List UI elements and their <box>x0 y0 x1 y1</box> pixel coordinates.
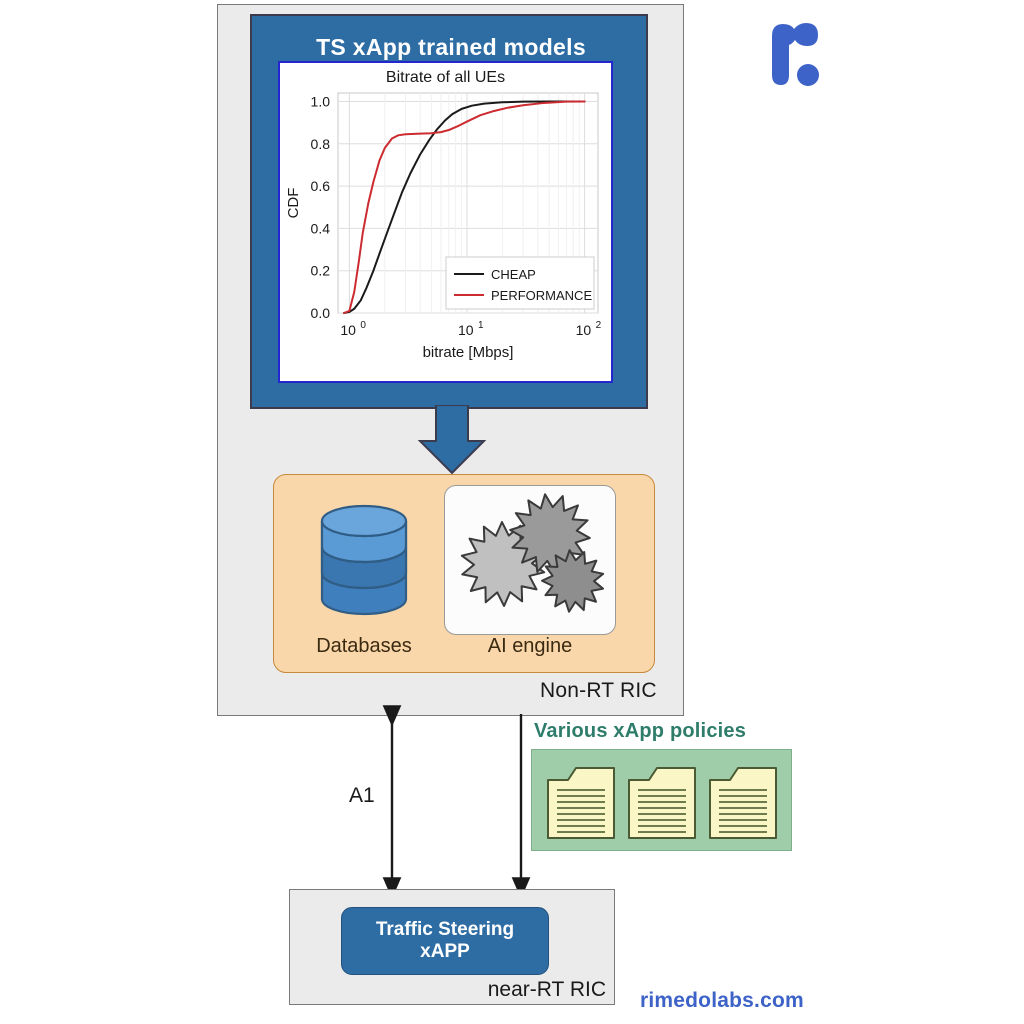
a1-interface-label: A1 <box>349 784 375 808</box>
ai-engine-gears-icon <box>445 486 615 634</box>
trained-models-title: TS xApp trained models <box>252 34 650 61</box>
near-rt-ric-label: near-RT RIC <box>460 978 606 1002</box>
models-to-engine-arrow <box>418 405 486 475</box>
svg-text:10: 10 <box>576 322 592 338</box>
databases-ai-panel: Databases AI engine <box>273 474 655 673</box>
svg-text:PERFORMANCE: PERFORMANCE <box>491 288 592 303</box>
ai-engine-card <box>444 485 616 635</box>
svg-text:0: 0 <box>360 320 366 331</box>
near-rt-ric-container: Traffic Steering xAPP near-RT RIC <box>289 889 615 1005</box>
policies-title: Various xApp policies <box>534 720 746 743</box>
traffic-steering-xapp-box: Traffic Steering xAPP <box>341 907 549 975</box>
svg-text:0.8: 0.8 <box>311 136 331 152</box>
svg-text:2: 2 <box>596 320 602 331</box>
svg-text:1: 1 <box>478 320 484 331</box>
svg-text:10: 10 <box>458 322 474 338</box>
svg-text:1.0: 1.0 <box>311 93 331 109</box>
ts-xapp-line1: Traffic Steering <box>376 919 514 941</box>
policy-document-icon <box>546 764 616 840</box>
svg-text:10: 10 <box>340 322 356 338</box>
svg-text:0.4: 0.4 <box>311 220 331 236</box>
svg-text:CHEAP: CHEAP <box>491 267 536 282</box>
brand-text: rimedolabs.com <box>640 989 804 1013</box>
xapp-policies-group <box>531 749 792 851</box>
svg-text:0.0: 0.0 <box>311 305 331 321</box>
svg-text:CDF: CDF <box>285 188 302 219</box>
cdf-chart: 0.00.20.40.60.81.0100101102bitrate [Mbps… <box>280 63 611 381</box>
svg-text:0.2: 0.2 <box>311 263 331 279</box>
database-cylinder-icon <box>284 493 444 633</box>
bitrate-cdf-chart-panel: Bitrate of all UEs 0.00.20.40.60.81.0100… <box>278 61 613 383</box>
policy-document-icon <box>708 764 778 840</box>
connector-arrows <box>0 700 1024 920</box>
ai-engine-label: AI engine <box>439 635 621 658</box>
rimedolabs-logo <box>752 8 832 94</box>
svg-text:bitrate [Mbps]: bitrate [Mbps] <box>423 344 514 361</box>
policy-document-icon <box>627 764 697 840</box>
database-graphic: Databases <box>284 493 444 663</box>
databases-label: Databases <box>284 635 444 658</box>
svg-text:0.6: 0.6 <box>311 178 331 194</box>
ts-xapp-line2: xAPP <box>420 941 470 963</box>
